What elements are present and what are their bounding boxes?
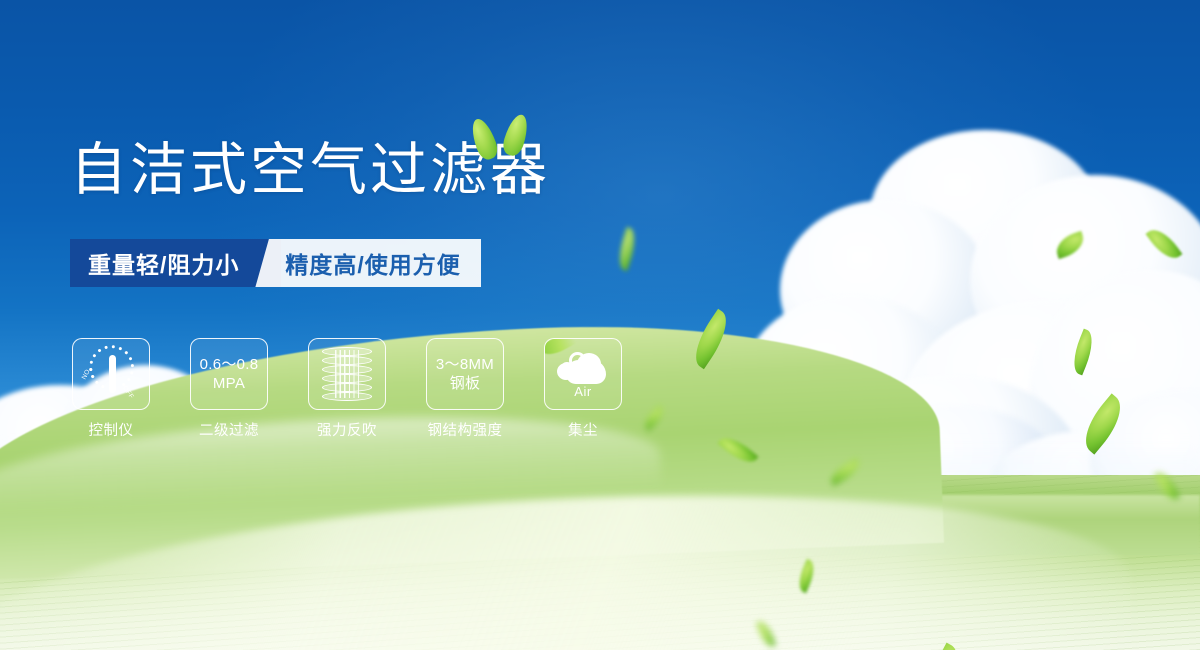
feature-item-dust[interactable]: Air 集尘 — [544, 338, 622, 440]
feature-label: 控制仪 — [72, 419, 150, 440]
subtitle-band: 重量轻/阻力小 精度高/使用方便 — [70, 239, 481, 287]
gauge-icon: NO OFF — [80, 345, 142, 403]
feature-list: NO OFF 控制仪 0.6〜0.8 MPA 二级过滤 — [72, 338, 622, 440]
feature-icon-box: NO OFF — [72, 338, 150, 410]
feature-label: 集尘 — [544, 419, 622, 440]
subtitle-left-text: 重量轻/阻力小 — [70, 239, 255, 287]
feature-icon-box: 0.6〜0.8 MPA — [190, 338, 268, 410]
cloud-notch — [561, 362, 573, 373]
pressure-text-icon: 0.6〜0.8 MPA — [200, 355, 259, 393]
filter-stack-icon — [322, 347, 372, 401]
gauge-needle — [109, 355, 116, 393]
subtitle-divider-wedge — [255, 239, 281, 287]
feature-icon-box — [308, 338, 386, 410]
feature-label: 二级过滤 — [190, 419, 268, 440]
promotional-banner: 自洁式空气过滤器 重量轻/阻力小 精度高/使用方便 — [0, 0, 1200, 650]
feature-item-steel[interactable]: 3〜8MM 钢板 钢结构强度 — [426, 338, 504, 440]
cloud-air-icon: Air — [553, 346, 613, 402]
air-label: Air — [553, 384, 613, 399]
steel-plate-text-icon: 3〜8MM 钢板 — [436, 355, 494, 393]
feature-label: 强力反吹 — [308, 419, 386, 440]
feature-item-pressure[interactable]: 0.6〜0.8 MPA 二级过滤 — [190, 338, 268, 440]
feature-item-backblow[interactable]: 强力反吹 — [308, 338, 386, 440]
subtitle-right-text: 精度高/使用方便 — [281, 239, 480, 287]
sprout-leaf-left — [467, 116, 500, 162]
feature-icon-box: 3〜8MM 钢板 — [426, 338, 504, 410]
feature-icon-box: Air — [544, 338, 622, 410]
feature-item-controller[interactable]: NO OFF 控制仪 — [72, 338, 150, 440]
sprout-leaf-right — [500, 112, 531, 158]
sprout-leaves-icon — [468, 110, 534, 162]
feature-label: 钢结构强度 — [426, 419, 504, 440]
